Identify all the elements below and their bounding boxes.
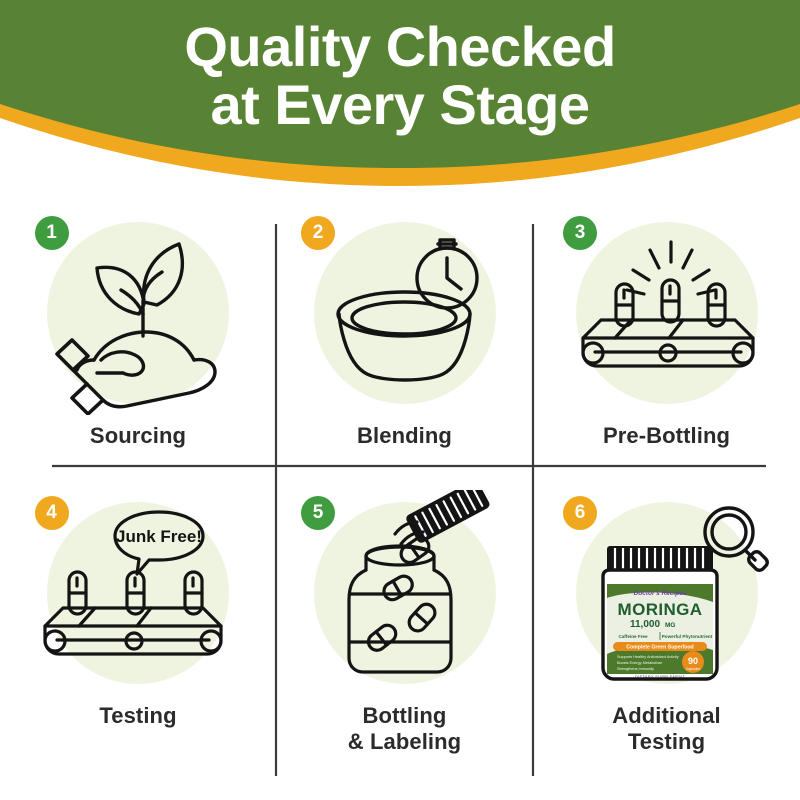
step-number-text: 6 (575, 502, 586, 524)
step-label-pre-bottling: Pre-Bottling (603, 423, 730, 449)
step-cell-additional-testing[interactable]: 6 (533, 466, 800, 800)
step-3-icon-stage: 3 (559, 210, 774, 415)
step-label-line-1: Additional (612, 703, 721, 728)
page-title-line-2: at Every Stage (0, 76, 800, 134)
bottle-claim-left: Caffeine Free (618, 634, 648, 639)
step-number-text: 3 (575, 222, 586, 244)
step-cell-testing[interactable]: 4 Junk Free! (0, 466, 276, 800)
step-number-badge-6: 6 (563, 496, 597, 530)
step-number-badge-4: 4 (35, 496, 69, 530)
step-6-icon-stage: 6 (559, 490, 774, 695)
step-number-text: 1 (46, 222, 57, 244)
step-number-text: 2 (313, 222, 324, 244)
header-banner: Quality Checked at Every Stage (0, 0, 800, 200)
bottle-count-value: 90 (688, 656, 698, 666)
step-label-line-1: Blending (357, 423, 452, 448)
step-number-badge-5: 5 (301, 496, 335, 530)
step-cell-bottling-labeling[interactable]: 5 (276, 466, 533, 800)
step-1-icon-stage: 1 (31, 210, 246, 415)
step-number-text: 5 (313, 502, 324, 524)
supplement-bottle: Doctor's Recipes MORINGA 11,000 MG Caffe… (603, 546, 717, 679)
step-label-line-2: & Labeling (348, 729, 461, 755)
step-cell-blending[interactable]: 2 (276, 196, 533, 466)
bottle-brand-text: Doctor's Recipes (634, 590, 687, 597)
step-label-line-1: Sourcing (90, 423, 186, 448)
bottle-bullet-1: Supports Healthy Antioxidant Activity (617, 655, 679, 659)
step-label-line-1: Testing (99, 703, 176, 728)
step-label-additional-testing: Additional Testing (612, 703, 721, 755)
step-label-blending: Blending (357, 423, 452, 449)
step-label-line-1: Bottling (363, 703, 447, 728)
steps-grid: 1 (0, 196, 800, 800)
step-number-badge-3: 3 (563, 216, 597, 250)
magnifying-glass-icon (705, 508, 769, 572)
bottle-banner-text: Complete Green Superfood (626, 645, 693, 651)
step-cell-pre-bottling[interactable]: 3 (533, 196, 800, 466)
step-label-line-2: Testing (612, 729, 721, 755)
bottle-product-name: MORINGA (618, 600, 703, 619)
bottle-dosage-unit: MG (665, 622, 675, 629)
step-2-icon-stage: 2 (297, 210, 512, 415)
step-number-badge-1: 1 (35, 216, 69, 250)
infographic-root: Quality Checked at Every Stage 1 (0, 0, 800, 800)
bottle-count-unit: Capsules (686, 667, 700, 671)
step-label-sourcing: Sourcing (90, 423, 186, 449)
step-number-text: 4 (46, 502, 57, 524)
step-4-icon-stage: 4 Junk Free! (31, 490, 246, 695)
page-title-line-1: Quality Checked (0, 18, 800, 76)
bottle-bullet-3: Strengthens Immunity (617, 667, 654, 671)
step-label-line-1: Pre-Bottling (603, 423, 730, 448)
step-label-bottling-labeling: Bottling & Labeling (348, 703, 461, 755)
bottle-footer-text: DIETARY SUPPLEMENT (635, 675, 685, 679)
bottle-bullet-2: Boosts Energy Metabolism (617, 661, 662, 665)
step-label-testing: Testing (99, 703, 176, 729)
page-title: Quality Checked at Every Stage (0, 18, 800, 134)
bottle-dosage-amount: 11,000 (630, 619, 660, 630)
speech-bubble-text: Junk Free! (116, 527, 202, 546)
bottle-claim-right: Powerful Phytonutrient (662, 634, 713, 639)
step-number-badge-2: 2 (301, 216, 335, 250)
step-5-icon-stage: 5 (297, 490, 512, 695)
step-cell-sourcing[interactable]: 1 (0, 196, 276, 466)
